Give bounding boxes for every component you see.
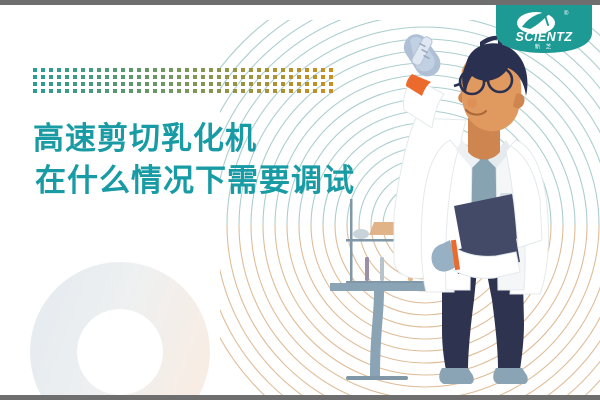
- dot: [209, 75, 213, 79]
- dot: [73, 68, 77, 72]
- dot: [97, 89, 101, 93]
- dot: [121, 68, 125, 72]
- dot: [289, 68, 293, 72]
- headline-line-2: 在什么情况下需要调试: [35, 160, 355, 202]
- dot: [73, 75, 77, 79]
- dot: [153, 82, 157, 86]
- dot: [233, 82, 237, 86]
- dot: [145, 89, 149, 93]
- dot: [265, 68, 269, 72]
- dot: [185, 68, 189, 72]
- dot: [201, 89, 205, 93]
- dot: [169, 68, 173, 72]
- dot: [209, 68, 213, 72]
- promo-banner: 高速剪切乳化机 在什么情况下需要调试: [0, 0, 600, 400]
- dot: [265, 89, 269, 93]
- dot: [177, 68, 181, 72]
- dot: [257, 89, 261, 93]
- dot: [169, 82, 173, 86]
- dot: [65, 75, 69, 79]
- dot: [137, 89, 141, 93]
- dot: [89, 68, 93, 72]
- dot: [137, 82, 141, 86]
- dot: [169, 75, 173, 79]
- dot: [297, 68, 301, 72]
- dot: [113, 68, 117, 72]
- dot: [41, 75, 45, 79]
- dot: [241, 82, 245, 86]
- dot: [313, 89, 317, 93]
- dot: [273, 89, 277, 93]
- dot: [257, 82, 261, 86]
- dot: [105, 89, 109, 93]
- dot: [81, 89, 85, 93]
- dot: [57, 82, 61, 86]
- dot: [257, 75, 261, 79]
- donut-decoration: [30, 262, 210, 400]
- dot: [65, 89, 69, 93]
- dot: [233, 68, 237, 72]
- dot: [49, 75, 53, 79]
- dot: [177, 75, 181, 79]
- dot: [153, 89, 157, 93]
- dot: [57, 68, 61, 72]
- dot: [273, 75, 277, 79]
- dot: [153, 68, 157, 72]
- dot: [41, 82, 45, 86]
- brand-name-text: SCIENTZ: [516, 30, 574, 44]
- dot: [281, 75, 285, 79]
- headline-line-1: 高速剪切乳化机: [33, 118, 355, 160]
- dot: [73, 82, 77, 86]
- dot: [81, 68, 85, 72]
- dot: [225, 68, 229, 72]
- dot: [249, 68, 253, 72]
- dot: [97, 82, 101, 86]
- dot: [217, 75, 221, 79]
- dot: [185, 82, 189, 86]
- dot: [297, 75, 301, 79]
- dot: [289, 89, 293, 93]
- dot: [145, 75, 149, 79]
- dot: [249, 75, 253, 79]
- dot: [193, 89, 197, 93]
- dot: [241, 75, 245, 79]
- scientist-illustration: [320, 0, 600, 400]
- dot: [137, 68, 141, 72]
- dot: [289, 75, 293, 79]
- dot: [297, 82, 301, 86]
- dot: [81, 82, 85, 86]
- dot: [41, 68, 45, 72]
- dot: [97, 68, 101, 72]
- dot: [121, 89, 125, 93]
- dot: [169, 89, 173, 93]
- dot: [57, 75, 61, 79]
- dot: [145, 82, 149, 86]
- dot: [305, 75, 309, 79]
- dot: [129, 68, 133, 72]
- dot: [105, 68, 109, 72]
- dot: [241, 89, 245, 93]
- top-edge-bar: [0, 0, 600, 5]
- bottom-edge-bar: [0, 395, 600, 400]
- dot: [105, 82, 109, 86]
- dot: [121, 82, 125, 86]
- dot: [233, 89, 237, 93]
- dot: [289, 82, 293, 86]
- dot: [305, 82, 309, 86]
- dot: [193, 75, 197, 79]
- dot: [217, 82, 221, 86]
- dot: [49, 68, 53, 72]
- dot: [281, 89, 285, 93]
- dot: [89, 82, 93, 86]
- page-title: 高速剪切乳化机 在什么情况下需要调试: [33, 118, 355, 202]
- dot: [161, 89, 165, 93]
- dot: [33, 68, 37, 72]
- dot: [113, 82, 117, 86]
- dot: [313, 68, 317, 72]
- brand-logo[interactable]: ® SCIENTZ 新 芝: [496, 3, 592, 53]
- dot: [145, 68, 149, 72]
- dot: [305, 89, 309, 93]
- dot: [113, 89, 117, 93]
- dot: [209, 82, 213, 86]
- dot: [41, 89, 45, 93]
- dot: [113, 75, 117, 79]
- dot: [249, 82, 253, 86]
- dot: [121, 75, 125, 79]
- dot: [129, 82, 133, 86]
- dot: [241, 68, 245, 72]
- registered-mark-text: ®: [564, 10, 569, 17]
- dot: [137, 75, 141, 79]
- dot: [129, 89, 133, 93]
- dot: [89, 75, 93, 79]
- dot: [33, 89, 37, 93]
- brand-sub-text: 新 芝: [535, 43, 554, 51]
- dot: [225, 89, 229, 93]
- dot: [129, 75, 133, 79]
- dot: [257, 68, 261, 72]
- dot: [249, 89, 253, 93]
- dot: [185, 75, 189, 79]
- dot: [65, 82, 69, 86]
- dot: [225, 82, 229, 86]
- dot: [305, 68, 309, 72]
- dot: [49, 89, 53, 93]
- dot: [201, 82, 205, 86]
- dot: [161, 68, 165, 72]
- dot: [105, 75, 109, 79]
- dot: [73, 89, 77, 93]
- dot: [225, 75, 229, 79]
- dot: [273, 68, 277, 72]
- dot: [193, 68, 197, 72]
- dot: [177, 89, 181, 93]
- dot: [33, 82, 37, 86]
- dot: [217, 89, 221, 93]
- dot: [281, 82, 285, 86]
- dot: [89, 89, 93, 93]
- dot: [33, 75, 37, 79]
- dot: [297, 89, 301, 93]
- dot: [265, 75, 269, 79]
- dot: [49, 82, 53, 86]
- dot: [81, 75, 85, 79]
- dot-grid-decoration: [33, 68, 337, 96]
- dot: [273, 82, 277, 86]
- dot: [209, 89, 213, 93]
- dot: [217, 68, 221, 72]
- dot: [201, 68, 205, 72]
- dot: [265, 82, 269, 86]
- dot: [201, 75, 205, 79]
- dot: [313, 75, 317, 79]
- dot: [185, 89, 189, 93]
- dot: [65, 68, 69, 72]
- dot: [97, 75, 101, 79]
- dot: [153, 75, 157, 79]
- dot: [161, 75, 165, 79]
- dot: [193, 82, 197, 86]
- dot: [161, 82, 165, 86]
- dot: [177, 82, 181, 86]
- dot: [233, 75, 237, 79]
- dot: [281, 68, 285, 72]
- dot: [313, 82, 317, 86]
- dot: [57, 89, 61, 93]
